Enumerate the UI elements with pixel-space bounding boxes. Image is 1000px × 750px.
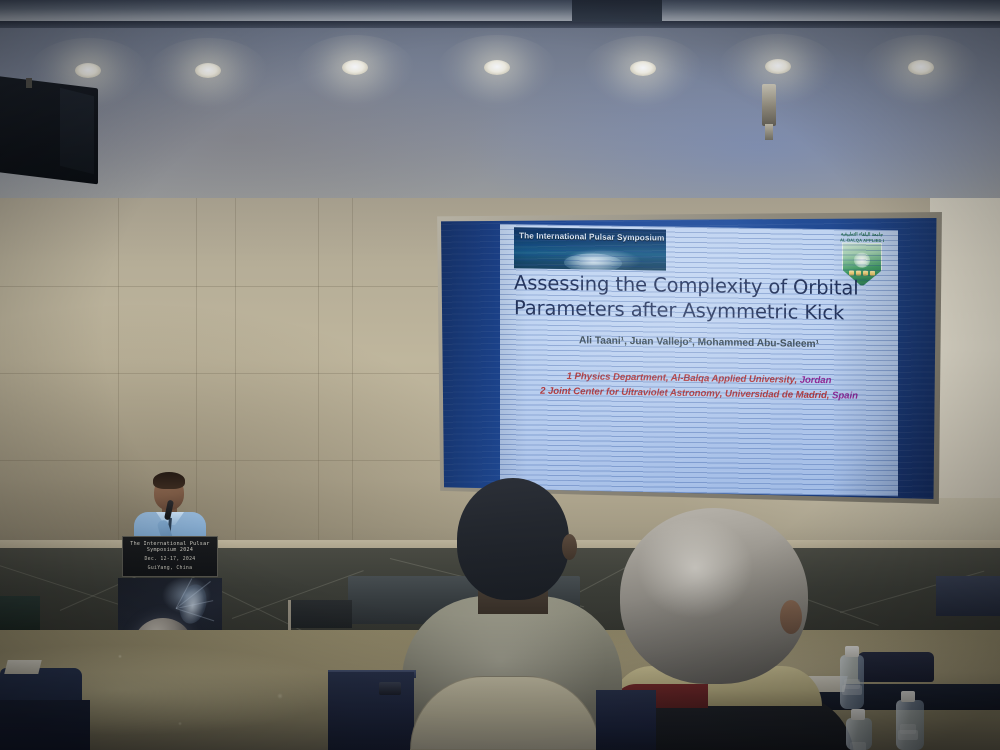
conference-hall-photo: The International Pulsar Symposium 2024 … (0, 0, 1000, 750)
symposium-banner-image: The International Pulsar Symposium 2024 (514, 227, 666, 270)
ceiling-light-5 (630, 61, 656, 76)
presentation-slide: The International Pulsar Symposium 2024 … (500, 224, 898, 496)
ceiling-light-4 (484, 60, 510, 75)
podium-sign-line-1: The International Pulsar (130, 541, 209, 548)
podium-sign-line-4: GuiYang, China (148, 566, 193, 572)
slide-title-line-2: Parameters after Asymmetric Kick (514, 295, 866, 326)
ceiling-light-1 (75, 63, 101, 78)
ceiling-light-7 (908, 60, 934, 75)
audience-b-head (620, 508, 808, 684)
bottle-label (898, 730, 918, 740)
projection-screen: The International Pulsar Symposium 2024 … (437, 218, 939, 499)
affiliation-2-text: 2 Joint Center for Ultraviolet Astronomy… (540, 386, 832, 402)
bottle-label (842, 685, 862, 695)
ceiling-light-2 (195, 63, 221, 78)
ceiling-light-3 (342, 60, 368, 75)
water-bottle-1 (840, 655, 864, 709)
blue-chair-left-lower (0, 700, 90, 750)
presenter-hair (153, 472, 185, 489)
ceiling-soffit (0, 0, 1000, 22)
chair-far-right (936, 576, 1000, 616)
slide-authors: Ali Taani¹, Juan Vallejo², Mohammed Abu-… (500, 334, 898, 351)
water-bottle-2 (896, 700, 924, 750)
university-logo-english-text: AL-BALQA APPLIED UNIVERSITY (840, 237, 884, 243)
laptop-bag (858, 652, 934, 682)
ceiling-projector-mount-icon (762, 84, 776, 126)
audience-a-head (457, 478, 569, 600)
affiliation-1-country: Jordan (800, 375, 832, 386)
ceiling-soffit-shadow (0, 21, 1000, 28)
smartphone-on-table (379, 682, 401, 695)
water-bottle-3 (846, 718, 872, 750)
podium-sign-line-2: Symposium 2024 (147, 547, 193, 554)
right-table (596, 690, 656, 750)
slide-title: Assessing the Complexity of Orbital Para… (514, 270, 866, 326)
front-table (328, 672, 414, 750)
affiliation-2-country: Spain (832, 390, 858, 401)
podium-sign: The International Pulsar Symposium 2024 … (122, 536, 218, 577)
line-array-loudspeaker-side (60, 88, 94, 174)
stage-step-rail (288, 600, 291, 632)
ceiling-light-6 (765, 59, 791, 74)
speaker-rigging-icon (26, 78, 32, 88)
slide-affiliation-1: 1 Physics Department, Al-Balqa Applied U… (500, 370, 898, 387)
slide-affiliation-2: 2 Joint Center for Ultraviolet Astronomy… (500, 385, 898, 402)
ceiling-soffit-box (572, 0, 662, 22)
affiliation-1-text: 1 Physics Department, Al-Balqa Applied U… (567, 371, 800, 386)
paper-left (4, 660, 41, 674)
audience-a-ear (562, 534, 577, 560)
symposium-banner-title: The International Pulsar Symposium 2024 (519, 231, 662, 242)
audience-b-ear (780, 600, 802, 634)
stage-step (290, 600, 352, 628)
podium-sign-line-3: Dec. 12-17, 2024 (144, 557, 195, 563)
